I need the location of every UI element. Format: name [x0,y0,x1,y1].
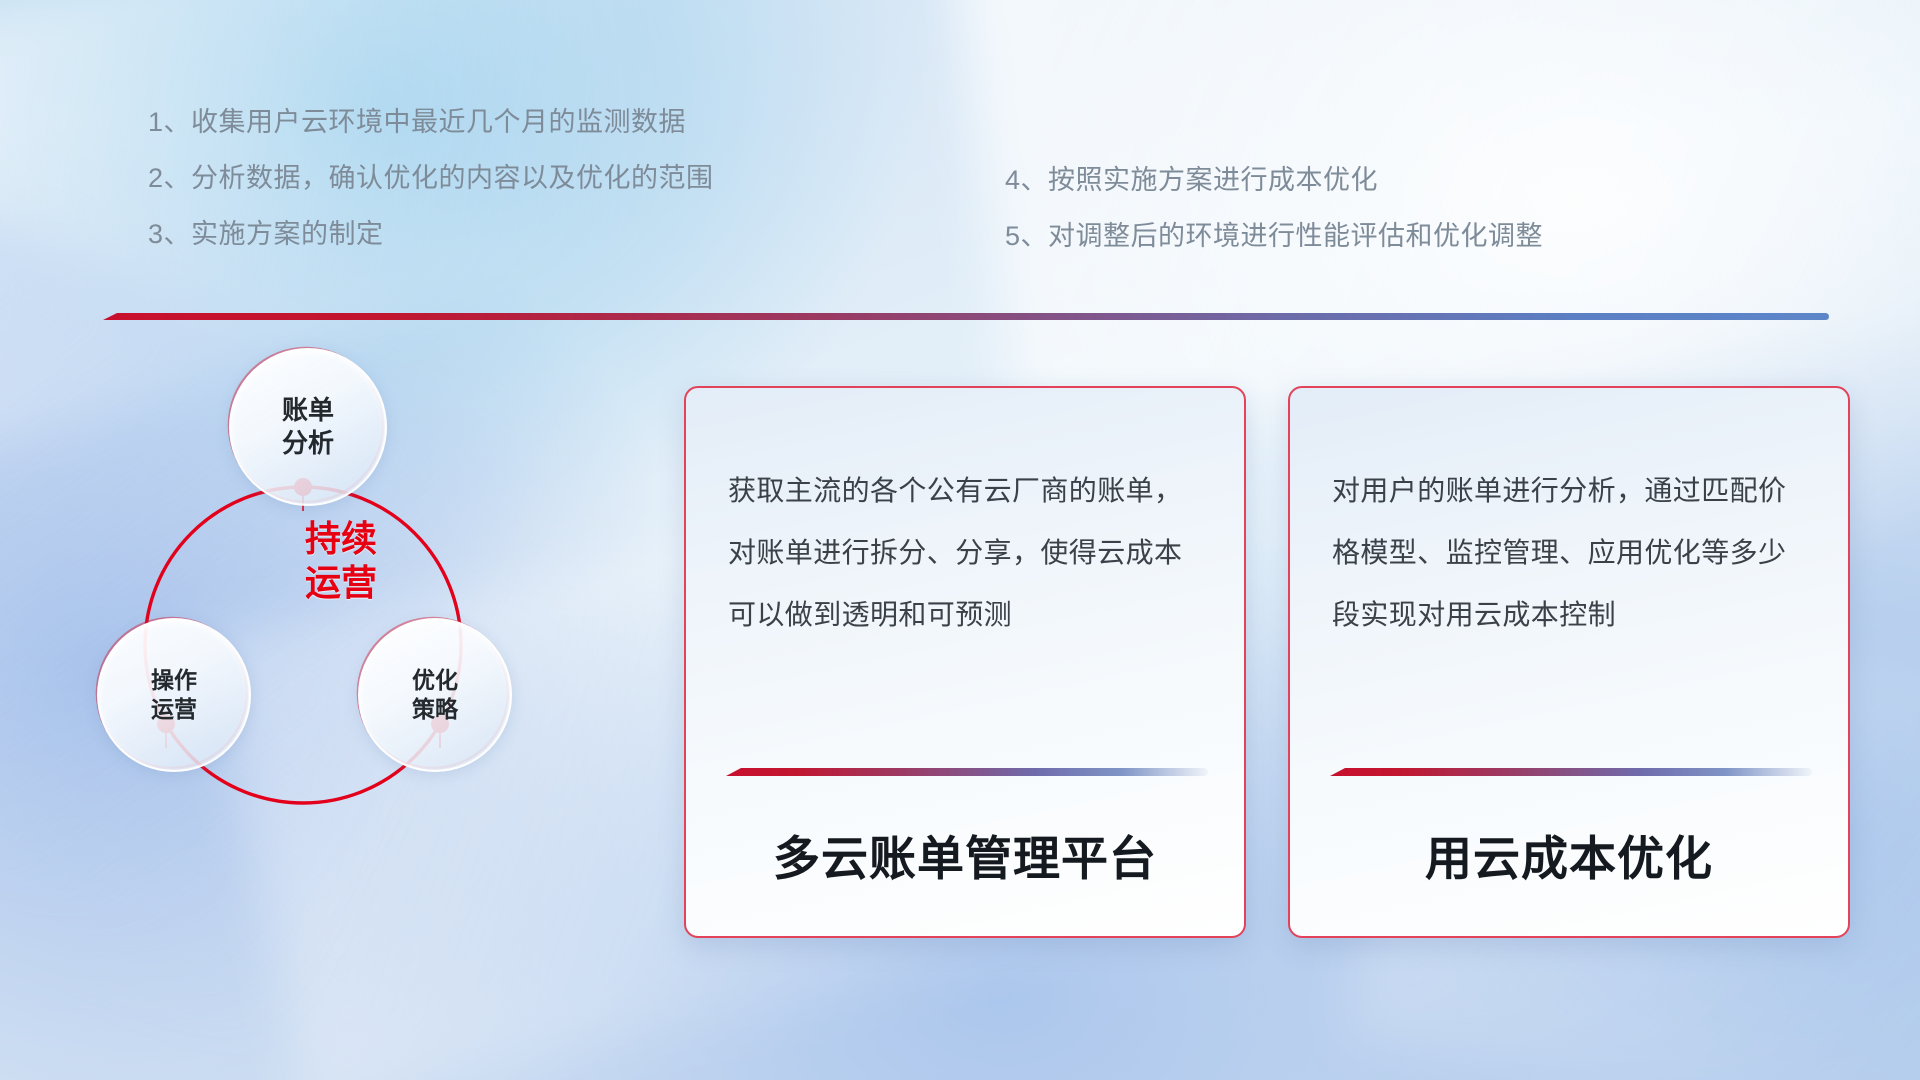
venn-bubble-label: 操作 运营 [151,666,197,725]
bullet-item: 1、收集用户云环境中最近几个月的监测数据 [148,94,714,150]
slide-canvas: 1、收集用户云环境中最近几个月的监测数据 2、分析数据，确认优化的内容以及优化的… [0,0,1920,1080]
venn-bubble-label-line1: 账单 [282,395,334,425]
venn-center-label: 持续 运营 [256,517,426,605]
venn-bubble-label-line1: 操作 [151,667,197,693]
venn-bubble-optimization-policy[interactable]: 优化 策略 [358,618,512,772]
venn-bubble-label-line2: 运营 [151,696,197,722]
venn-center-label-line2: 运营 [305,562,377,603]
header-divider-rule [103,313,1829,320]
card-divider-rule [1330,768,1812,776]
card-divider-rule [726,768,1208,776]
venn-bubble-label-line2: 分析 [282,428,334,458]
bullet-item: 3、实施方案的制定 [148,206,714,262]
venn-bubble-bill-analysis[interactable]: 账单 分析 [229,348,387,506]
venn-center-label-line1: 持续 [305,518,377,559]
card-title: 用云成本优化 [1290,820,1848,889]
card-title: 多云账单管理平台 [686,820,1244,889]
bullet-list-left: 1、收集用户云环境中最近几个月的监测数据 2、分析数据，确认优化的内容以及优化的… [148,94,714,262]
venn-bubble-label: 账单 分析 [282,394,334,461]
venn-bubble-operation-ops[interactable]: 操作 运营 [97,618,251,772]
venn-diagram: 账单 分析 操作 运营 优化 策略 持续 运营 [90,345,620,945]
bullet-item: 2、分析数据，确认优化的内容以及优化的范围 [148,150,714,206]
bullet-list-right: 4、按照实施方案进行成本优化 5、对调整后的环境进行性能评估和优化调整 [1005,152,1543,264]
venn-bubble-label: 优化 策略 [412,666,458,725]
venn-bubble-label-line2: 策略 [412,696,458,722]
bullet-item: 5、对调整后的环境进行性能评估和优化调整 [1005,208,1543,264]
card-multi-cloud-billing-platform[interactable]: 获取主流的各个公有云厂商的账单，对账单进行拆分、分享，使得云成本可以做到透明和可… [684,386,1246,938]
card-cloud-cost-optimization[interactable]: 对用户的账单进行分析，通过匹配价格模型、监控管理、应用优化等多少段实现对用云成本… [1288,386,1850,938]
bullet-item: 4、按照实施方案进行成本优化 [1005,152,1543,208]
card-body-text: 对用户的账单进行分析，通过匹配价格模型、监控管理、应用优化等多少段实现对用云成本… [1332,460,1808,646]
card-body-text: 获取主流的各个公有云厂商的账单，对账单进行拆分、分享，使得云成本可以做到透明和可… [728,460,1204,646]
venn-bubble-label-line1: 优化 [412,667,458,693]
